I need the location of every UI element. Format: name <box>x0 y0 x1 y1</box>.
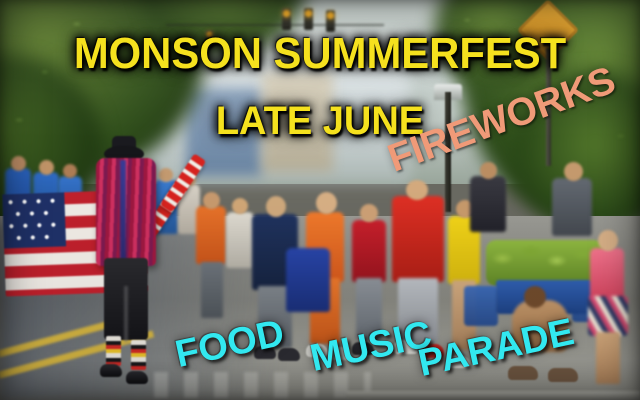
spectator-head <box>316 192 337 214</box>
spectator-sandal <box>548 368 578 382</box>
spectator-head <box>232 198 248 214</box>
patterned-skirt <box>588 296 628 336</box>
spectator-head <box>480 162 497 179</box>
spectator-legs <box>201 262 223 318</box>
spectator-head <box>159 168 173 182</box>
spectator-head <box>406 180 428 200</box>
flag-canton-stars <box>2 192 66 248</box>
spectator-sandal <box>508 366 538 380</box>
summerfest-poster: MONSON SUMMERFEST LATE JUNE FIREWORKS FO… <box>0 0 640 400</box>
spectator-head <box>63 164 77 178</box>
spectator-head <box>266 196 286 217</box>
overhead-wire <box>166 24 384 26</box>
held-blue-bag <box>286 248 330 312</box>
performer-suspender-stripe <box>120 160 126 262</box>
spectator-figure <box>392 196 444 282</box>
spectator-figure <box>196 206 226 264</box>
spectator-head <box>203 192 220 209</box>
spectator-figure <box>590 248 624 300</box>
performer-shoe <box>126 371 148 384</box>
spectator-head <box>598 230 618 251</box>
performer-shoe <box>100 364 122 377</box>
performer-striped-sock <box>131 340 146 370</box>
spectator-head <box>524 286 546 308</box>
curb-edge <box>346 391 640 400</box>
performer-jacket <box>96 158 156 266</box>
spectator-figure <box>552 178 592 236</box>
performer-pant-seam <box>124 286 128 342</box>
page-title: MONSON SUMMERFEST <box>74 32 566 76</box>
spectator-head <box>39 160 54 175</box>
spectator-figure <box>352 220 386 282</box>
traffic-signal-icon <box>282 8 291 30</box>
spectator-figure <box>226 212 254 268</box>
traffic-signal-icon <box>304 8 313 30</box>
performer-striped-sock <box>106 336 121 366</box>
spectator-figure <box>470 176 506 232</box>
spectator-head <box>11 156 26 171</box>
folding-chair <box>464 286 498 326</box>
crosswalk-marking <box>154 372 372 398</box>
spectator-head <box>564 162 583 181</box>
spectator-legs <box>596 332 620 384</box>
spectator-head <box>360 204 378 222</box>
